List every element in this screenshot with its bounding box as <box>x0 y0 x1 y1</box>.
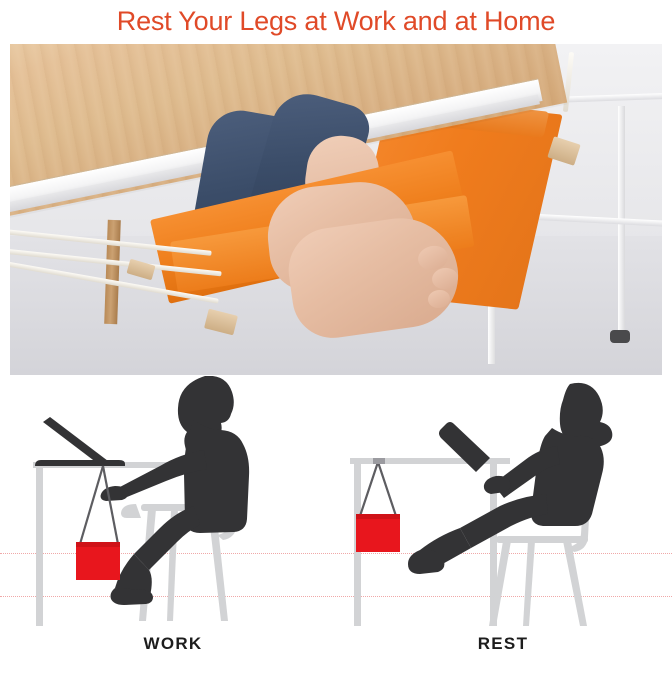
title-bar: Rest Your Legs at Work and at Home <box>0 0 672 43</box>
work-hammock <box>76 466 120 580</box>
product-photo <box>10 44 662 375</box>
usage-diagram: WORK <box>0 376 672 694</box>
page-title: Rest Your Legs at Work and at Home <box>117 6 555 37</box>
work-laptop <box>35 417 125 466</box>
page-root: Rest Your Legs at Work and at Home <box>0 0 672 694</box>
rest-hammock <box>356 458 400 552</box>
scene-rest-illustration <box>338 376 668 626</box>
scene-work-label: WORK <box>8 634 338 654</box>
white-frame-foot-cap <box>610 330 630 343</box>
scene-work-illustration <box>8 376 338 626</box>
scene-work: WORK <box>8 376 338 694</box>
scene-rest: REST <box>338 376 668 694</box>
scene-rest-label: REST <box>338 634 668 654</box>
